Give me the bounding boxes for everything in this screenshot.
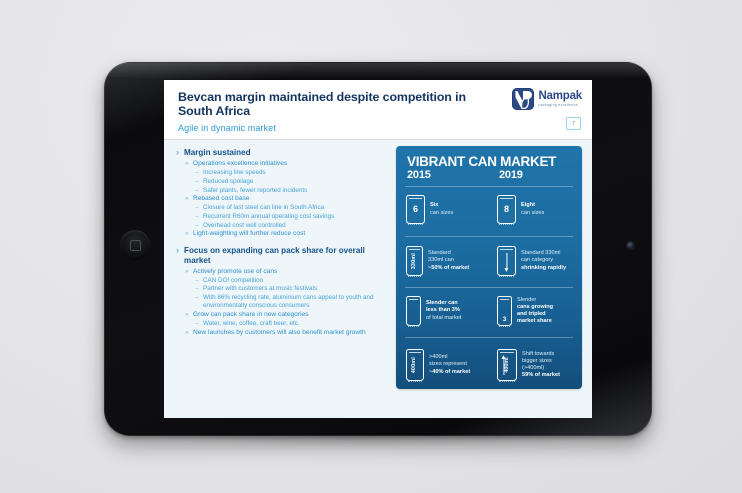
bullet-list: Margin sustained Operations excellence i… (176, 148, 391, 338)
panel-cell-line4: market share (517, 318, 552, 324)
bullet-l1: Margin sustained (176, 148, 391, 158)
bullet-l3: Increasing line speeds (176, 169, 391, 177)
bullet-l2: Grow can pack share in new categories (176, 311, 391, 320)
can-label: 400ml (412, 357, 417, 373)
can-label: 8 (504, 205, 509, 214)
bullet-l2: Light-weighting will further reduce cost (176, 230, 391, 239)
panel-divider (405, 287, 573, 288)
panel-cell-line3: and tripled (517, 311, 546, 317)
panel-cell: Slender can less than 3% of total market (406, 296, 494, 326)
panel-cell-line1: Shift towards (522, 351, 560, 358)
can-arrow-down-icon (497, 246, 516, 276)
home-button[interactable] (120, 230, 150, 260)
panel-cell-line2: can sizes (521, 210, 544, 217)
bullet-l3: Partner with customers at music festival… (176, 285, 391, 293)
page-number-badge: 7 (566, 117, 581, 130)
bullet-l2: Actively promote use of cans (176, 268, 391, 277)
panel-cell-line4: 59% of market (522, 372, 560, 378)
panel-divider (405, 186, 573, 187)
home-button-square-icon (130, 240, 141, 251)
panel-cell-line3: ~40% of market (429, 369, 470, 375)
can-number-icon: 8 (497, 195, 516, 224)
panel-year-left: 2015 (407, 169, 431, 181)
panel-cell: 330ml Standard 330ml can ~50% of market (406, 246, 494, 276)
bullet-l3: Recurrent R60m annual operating cost sav… (176, 213, 391, 221)
can-label: 330ml (412, 253, 417, 269)
can-400ml-icon: 400ml (406, 349, 424, 381)
arrow-down-icon (498, 247, 515, 275)
can-label: 3 (503, 316, 507, 323)
panel-cell-line2: 330ml can (428, 257, 469, 264)
panel-cell-line2: sizes represent (429, 361, 470, 368)
panel-cell-text: Six can sizes (430, 202, 453, 216)
front-camera-icon (627, 242, 634, 249)
can-label: 6 (413, 205, 418, 214)
bullet-l2: Rebased cost base (176, 195, 391, 204)
can-slender-icon (406, 296, 421, 326)
can-400ml-arrow-up-icon: 400ml (497, 349, 517, 381)
panel-cell-text: Eight can sizes (521, 202, 544, 216)
panel-cell-text: Standard 330ml can category shrinking ra… (521, 250, 566, 272)
tablet-device: Bevcan margin maintained despite competi… (104, 62, 652, 436)
panel-title: VIBRANT CAN MARKET (407, 154, 556, 169)
logo-tagline: packaging excellence (538, 104, 582, 107)
page-subtitle: Agile in dynamic market (178, 123, 276, 133)
bullet-l3: Reduced spoilage (176, 178, 391, 186)
slide-body: Margin sustained Operations excellence i… (164, 140, 592, 418)
panel-cell-line3: of total market (426, 315, 461, 322)
panel-cell-line3: shrinking rapidly (521, 265, 566, 271)
nampak-logo-mark-icon (512, 88, 534, 110)
panel-year-row: 2015 2019 (407, 169, 571, 182)
panel-divider (405, 337, 573, 338)
bullet-l3: Safer plants, fewer reported incidents (176, 187, 391, 195)
panel-cell-line1: Standard 330ml (521, 250, 566, 257)
nampak-logo: Nampak packaging excellence (512, 88, 582, 110)
panel-cell-line1: Slender (517, 297, 553, 304)
panel-cell: 3 Slender cans growing and tripled marke… (497, 296, 582, 326)
bullet-l3: With 86% recycling rate, aluminium cans … (176, 294, 391, 311)
bullet-l2: New launches by customers will also bene… (176, 329, 391, 338)
panel-divider (405, 236, 573, 237)
panel-cell-line2: less than 3% (426, 307, 460, 313)
bullet-l1: Focus on expanding can pack share for ov… (176, 246, 391, 266)
panel-cell-text: >400ml sizes represent ~40% of market (429, 354, 470, 376)
panel-cell-line2: can category (521, 257, 566, 264)
panel-cell: 400ml >400ml sizes represent ~40% of mar… (406, 349, 494, 381)
panel-cell-line1: Eight (521, 202, 535, 208)
logo-leaf-icon (521, 98, 529, 109)
panel-cell-text: Slender cans growing and tripled market … (517, 297, 553, 326)
can-330ml-icon: 330ml (406, 246, 423, 276)
presentation-slide: Bevcan margin maintained despite competi… (164, 80, 592, 418)
panel-year-right: 2019 (499, 169, 523, 181)
bullet-l3: Overhead cost well controlled (176, 222, 391, 230)
bullet-l2: Operations excellence initiatives (176, 160, 391, 169)
panel-cell-text: Shift towards bigger sizes (>400ml) 59% … (522, 351, 560, 380)
logo-wordmark: Nampak packaging excellence (538, 91, 582, 108)
vibrant-can-market-panel: VIBRANT CAN MARKET 2015 2019 6 (396, 146, 582, 389)
bullet-l3: Closure of last steel can line in South … (176, 204, 391, 212)
panel-cell-line1: >400ml (429, 354, 470, 361)
bullet-l3: Water, wine, coffee, craft beer, etc. (176, 320, 391, 328)
panel-cell-line2: bigger sizes (522, 358, 560, 365)
panel-cell-line2: cans growing (517, 304, 553, 310)
page-title: Bevcan margin maintained despite competi… (178, 90, 498, 118)
panel-cell: 400ml Shift towards bigger sizes (>400ml… (497, 349, 582, 381)
logo-name: Nampak (538, 91, 582, 103)
panel-cell-text: Slender can less than 3% of total market (426, 300, 461, 322)
panel-cell-line1: Slender can (426, 300, 458, 306)
slide-header: Bevcan margin maintained despite competi… (164, 80, 592, 140)
panel-cell-line1: Standard (428, 250, 469, 257)
panel-cell: Standard 330ml can category shrinking ra… (497, 246, 582, 276)
can-label: 400ml (504, 357, 510, 372)
panel-cell: 6 Six can sizes (406, 195, 494, 224)
panel-cell-line2: can sizes (430, 210, 453, 217)
can-inner: 400ml (498, 350, 516, 380)
can-slender-3-icon: 3 (497, 296, 512, 326)
can-number-icon: 6 (406, 195, 425, 224)
panel-cell-line3: (>400ml) (522, 365, 560, 372)
panel-cell: 8 Eight can sizes (497, 195, 582, 224)
panel-cell-line3: ~50% of market (428, 265, 469, 271)
panel-cell-line1: Six (430, 202, 438, 208)
panel-cell-text: Standard 330ml can ~50% of market (428, 250, 469, 272)
bullet-l3: CAN DO! competition (176, 277, 391, 285)
tablet-screen[interactable]: Bevcan margin maintained despite competi… (164, 80, 592, 418)
